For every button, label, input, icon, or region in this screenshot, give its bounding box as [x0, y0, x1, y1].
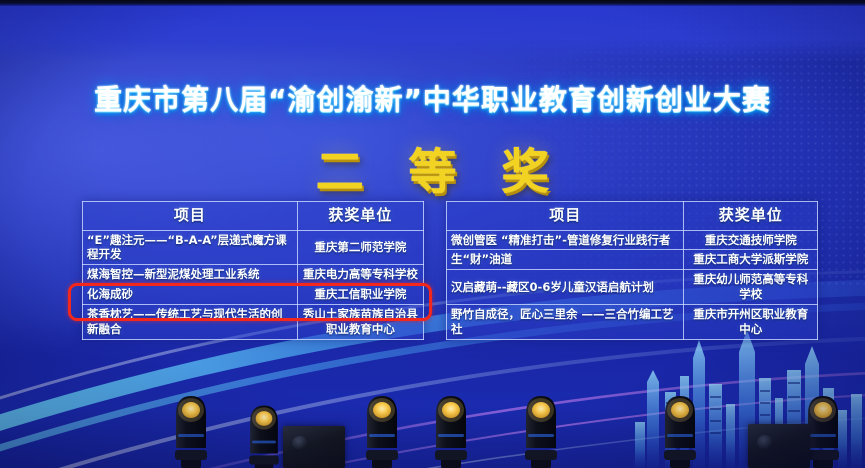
stage-speaker	[748, 424, 810, 468]
cell-project: 野竹自成径，匠心三里余 ——三合竹编工艺社	[447, 305, 684, 340]
cell-unit: 重庆市开州区职业教育中心	[684, 305, 818, 340]
column-header-project: 项目	[447, 202, 684, 231]
table-row: 茶香枕艺——传统工艺与现代生活的创新融合 秀山土家族苗族自治县职业教育中心	[83, 305, 424, 340]
cell-project: 生“财”油道	[447, 250, 684, 270]
column-header-unit: 获奖单位	[684, 202, 818, 231]
stage-light-icon	[515, 390, 567, 468]
cell-project: 汉启藏萌--藏区0-6岁儿童汉语启航计划	[447, 270, 684, 305]
stage-light-icon	[240, 400, 288, 468]
table-row: 野竹自成径，匠心三里余 ——三合竹编工艺社 重庆市开州区职业教育中心	[447, 305, 818, 340]
stage-light-icon	[165, 390, 217, 468]
presentation-screenshot: 重庆市第八届“渝创渝新”中华职业教育创新创业大赛 二 等 奖 项目 获奖单位 “…	[0, 0, 865, 468]
background-top-band	[0, 0, 865, 6]
cell-project: 茶香枕艺——传统工艺与现代生活的创新融合	[83, 305, 298, 340]
cell-project: 煤海智控—新型泥煤处理工业系统	[83, 265, 298, 285]
table-row: 生“财”油道 重庆工商大学派斯学院	[447, 250, 818, 270]
cell-unit: 重庆第二师范学院	[297, 230, 423, 265]
table-header-row: 项目 获奖单位	[447, 202, 818, 231]
cell-project: 化海成砂	[83, 285, 298, 305]
stage-light-icon	[425, 390, 477, 468]
cell-unit: 重庆工信职业学院	[297, 285, 423, 305]
table-row: 微创管医 “精准打击”-管道修复行业践行者 重庆交通技师学院	[447, 230, 818, 250]
award-title: 二 等 奖	[0, 132, 865, 202]
table-row-highlighted: 化海成砂 重庆工信职业学院	[83, 285, 424, 305]
table-row: “E”趣注元——“B-A-A”层递式魔方课程开发 重庆第二师范学院	[83, 230, 424, 265]
cell-unit: 重庆工商大学派斯学院	[684, 250, 818, 270]
table-row: 煤海智控—新型泥煤处理工业系统 重庆电力高等专科学校	[83, 265, 424, 285]
stage-light-icon	[356, 390, 408, 468]
cell-project: 微创管医 “精准打击”-管道修复行业践行者	[447, 230, 684, 250]
column-header-project: 项目	[83, 202, 298, 231]
cell-unit: 重庆电力高等专科学校	[297, 265, 423, 285]
cell-unit: 重庆幼儿师范高等专科学校	[684, 270, 818, 305]
awards-table-left: 项目 获奖单位 “E”趣注元——“B-A-A”层递式魔方课程开发 重庆第二师范学…	[82, 201, 424, 340]
table-header-row: 项目 获奖单位	[83, 202, 424, 231]
stage-light-icon	[654, 390, 706, 468]
table-row: 汉启藏萌--藏区0-6岁儿童汉语启航计划 重庆幼儿师范高等专科学校	[447, 270, 818, 305]
cell-unit: 重庆交通技师学院	[684, 230, 818, 250]
page-title: 重庆市第八届“渝创渝新”中华职业教育创新创业大赛	[0, 78, 865, 118]
stage-speaker	[283, 426, 345, 468]
column-header-unit: 获奖单位	[297, 202, 423, 231]
cell-unit: 秀山土家族苗族自治县职业教育中心	[297, 305, 423, 340]
background-top-glow	[0, 6, 865, 62]
cell-project: “E”趣注元——“B-A-A”层递式魔方课程开发	[83, 230, 298, 265]
awards-table-right: 项目 获奖单位 微创管医 “精准打击”-管道修复行业践行者 重庆交通技师学院 生…	[446, 201, 818, 340]
